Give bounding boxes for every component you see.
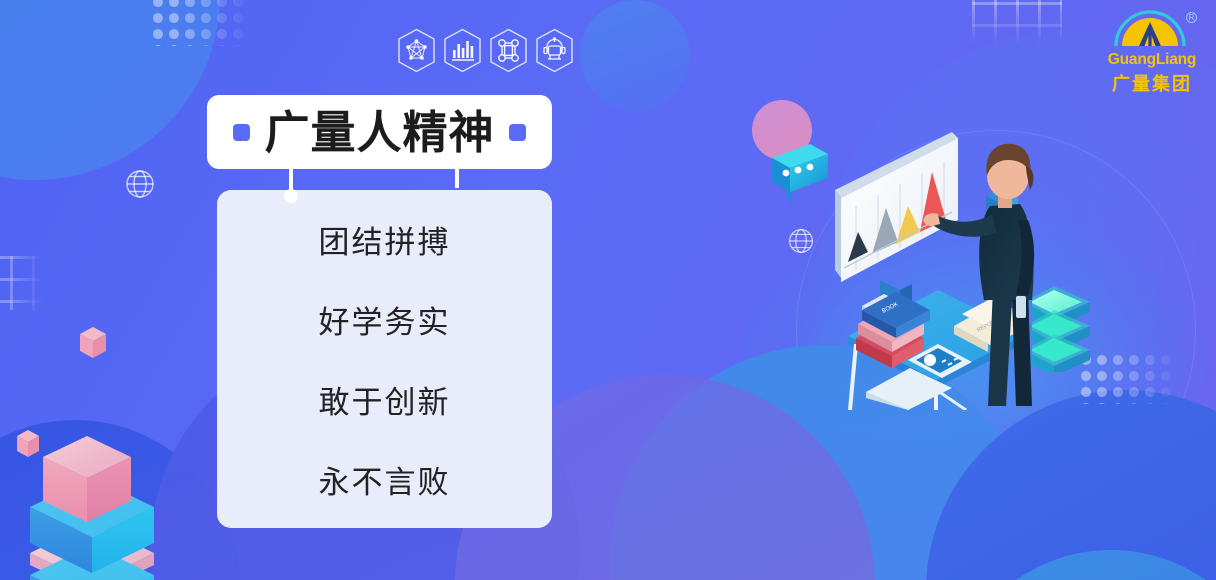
title-connector-dot: [284, 189, 298, 203]
value-item-3: 敢于创新: [319, 362, 451, 442]
title-square-right: [509, 124, 526, 141]
company-logo[interactable]: R GuangLiang 广量集团: [1100, 6, 1204, 96]
decor-bottom-circle-5: [926, 390, 1216, 580]
value-item-4: 永不言败: [319, 442, 451, 522]
isometric-cube-stack: [2, 395, 192, 580]
business-analytics-isometric-scene: BOOK REPORT: [740, 110, 1040, 410]
title-square-left: [233, 124, 250, 141]
values-panel: 团结拼搏 好学务实 敢于创新 永不言败: [217, 190, 552, 528]
value-item-1: 团结拼搏: [319, 202, 451, 282]
server-stack-icon: [1032, 282, 1102, 372]
robot-icon[interactable]: [535, 28, 574, 73]
dot-grid-top: [150, 0, 252, 46]
node-cluster-icon[interactable]: [489, 28, 528, 73]
bar-chart-icon[interactable]: [443, 28, 482, 73]
line-grid-top-right: [972, 0, 1062, 44]
chat-bubble-icon: [772, 144, 828, 206]
network-graph-icon[interactable]: [397, 28, 436, 73]
globe-icon-left: [124, 168, 156, 200]
decor-bottom-circle-6: [946, 550, 1216, 580]
poster-canvas: BOOK REPORT: [0, 0, 1216, 580]
decor-circle-blue-top: [580, 0, 690, 110]
guangliang-dome-mark: R: [1106, 6, 1198, 50]
logo-chinese-name: 广量集团: [1100, 70, 1204, 96]
registered-trademark-icon: R: [1186, 12, 1197, 23]
page-title-plate: 广量人精神: [207, 95, 552, 169]
value-item-2: 好学务实: [319, 282, 451, 362]
logo-english-name: GuangLiang: [1100, 51, 1204, 69]
decor-circle-top-left: [0, 0, 220, 180]
mini-cube-upper: [78, 325, 108, 361]
page-title: 广量人精神: [264, 110, 494, 155]
line-grid-left: [0, 256, 44, 310]
header-icon-row: [397, 28, 574, 73]
